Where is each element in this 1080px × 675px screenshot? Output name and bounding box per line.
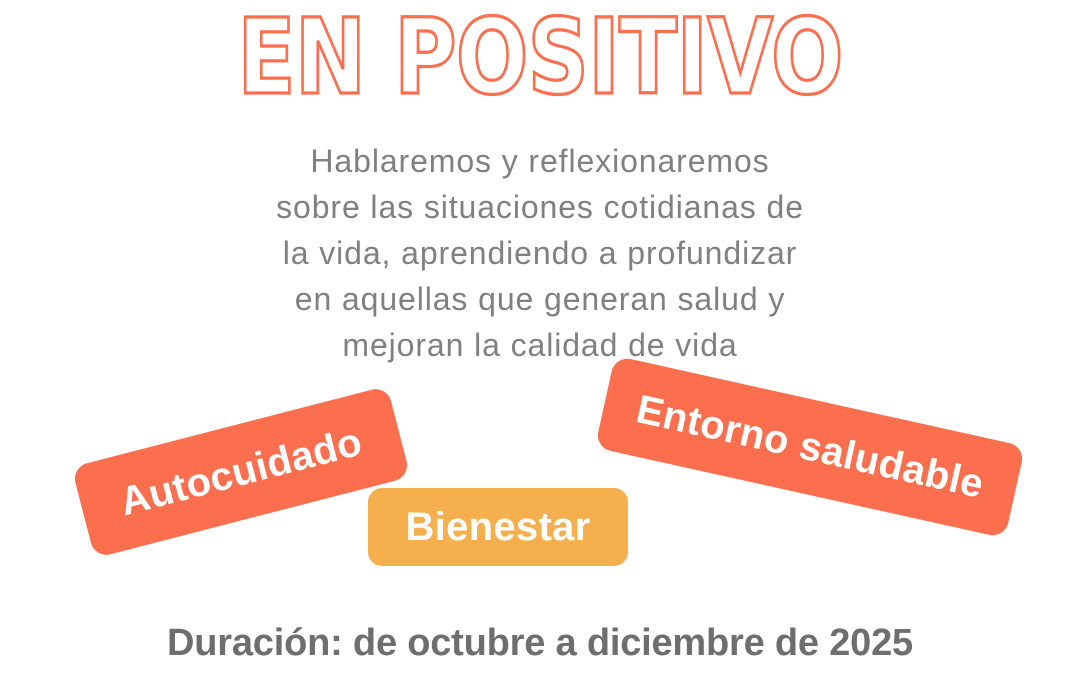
poster-title: SALUD EN POSITIVO <box>0 0 1080 105</box>
description-line-2: sobre las situaciones cotidianas de <box>160 184 920 230</box>
description-paragraph: Hablaremos y reflexionaremos sobre las s… <box>160 138 920 368</box>
badge-entorno-saludable: Entorno saludable <box>595 356 1025 539</box>
description-line-5: mejoran la calidad de vida <box>160 322 920 368</box>
poster-canvas: SALUD EN POSITIVO Hablaremos y reflexion… <box>0 0 1080 675</box>
title-line-en-positivo: EN POSITIVO <box>97 10 983 106</box>
description-line-1: Hablaremos y reflexionaremos <box>160 138 920 184</box>
badge-bienestar: Bienestar <box>368 488 628 566</box>
description-line-3: la vida, aprendiendo a profundizar <box>160 230 920 276</box>
badge-autocuidado: Autocuidado <box>71 386 410 559</box>
description-line-4: en aquellas que generan salud y <box>160 276 920 322</box>
duration-text: Duración: de octubre a diciembre de 2025 <box>0 622 1080 665</box>
